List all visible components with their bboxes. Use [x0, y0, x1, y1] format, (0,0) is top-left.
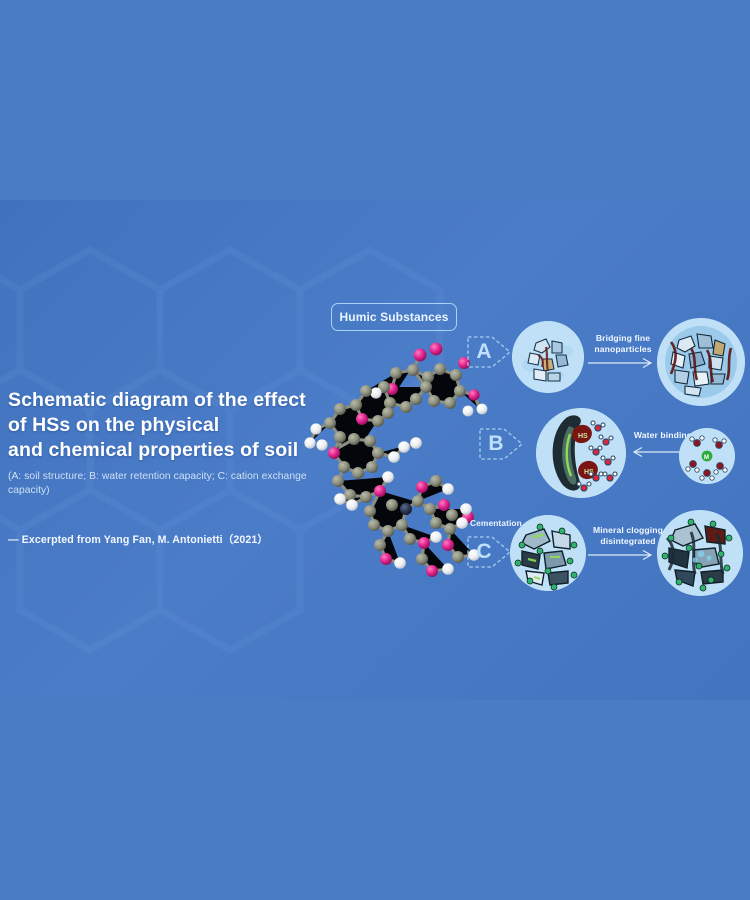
row-b-letter-badge: B: [478, 422, 524, 466]
humic-substances-label: Humic Substances: [331, 303, 457, 331]
row-a-arrow-label-line-1: Bridging fine: [586, 333, 660, 344]
row-a-right-circle: [657, 318, 745, 406]
cemented-mineral-clog-icon: [510, 515, 586, 591]
row-a-arrow-right-icon: [588, 356, 660, 370]
page-title: Schematic diagram of the effect of HSs o…: [8, 388, 338, 463]
humic-substance-water-retention-icon: HS HS: [536, 408, 626, 498]
citation-line: — Excerpted from Yang Fan, M. Antonietti…: [8, 532, 338, 547]
row-c-pre-label: Cementation: [470, 518, 522, 528]
aggregated-soil-structure-icon: [657, 318, 745, 406]
illustration-canvas: Schematic diagram of the effect of HSs o…: [0, 0, 750, 900]
row-b-letter: B: [482, 422, 510, 466]
row-c-letter-badge: C: [466, 530, 512, 574]
svg-text:HS: HS: [578, 433, 588, 440]
humic-substances-text: Humic Substances: [340, 310, 449, 324]
disintegrated-exchange-sites-icon: [657, 510, 743, 596]
water-molecules-cation-icon: M: [679, 428, 735, 484]
title-line-1: Schematic diagram of the effect: [8, 388, 338, 413]
title-line-3: and chemical properties of soil: [8, 438, 338, 463]
row-c-arrow-label-line-1: Mineral clogging: [585, 525, 671, 536]
row-a-arrow-label-line-2: nanoparticles: [586, 344, 660, 355]
row-a-letter: A: [470, 330, 498, 374]
text-block: Schematic diagram of the effect of HSs o…: [8, 388, 338, 547]
row-b-right-circle: M: [679, 428, 735, 484]
top-background-band: [0, 0, 750, 200]
svg-text:M: M: [704, 455, 709, 461]
subtitle-legend: (A: soil structure; B: water retention c…: [8, 470, 338, 498]
row-a-letter-badge: A: [466, 330, 512, 374]
row-a-arrow-label: Bridging fine nanoparticles: [586, 333, 660, 354]
row-c-letter: C: [470, 530, 498, 574]
diagram-panel: Schematic diagram of the effect of HSs o…: [0, 200, 750, 700]
title-line-2: of HSs on the physical: [8, 413, 338, 438]
row-b-left-circle: HS HS: [536, 408, 626, 498]
row-c-arrow-right-icon: [588, 548, 660, 562]
bottom-background-band: [0, 700, 750, 900]
row-c-left-circle: [510, 515, 586, 591]
row-c-right-circle: [657, 510, 743, 596]
row-a-left-circle: [512, 321, 584, 393]
loose-mineral-particles-icon: [512, 321, 584, 393]
